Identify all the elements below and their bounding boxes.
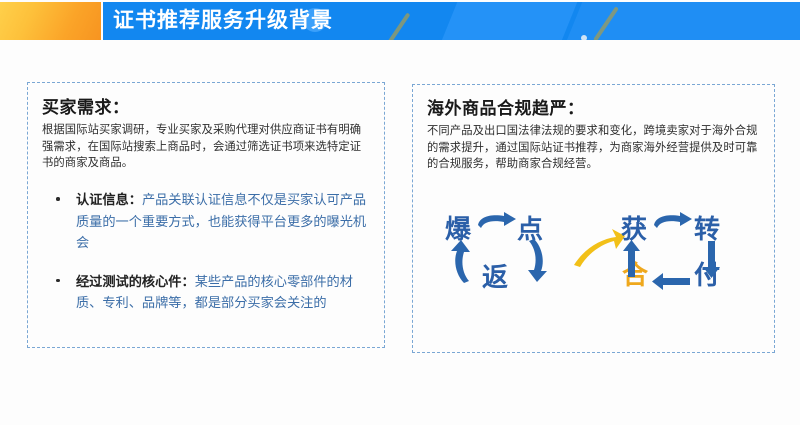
cycle-left-char-3: 返 [482, 263, 508, 291]
panel-overseas-compliance: 海外商品合规趋严： 不同产品及出口国法律法规的要求和变化，跨境卖家对于海外合规的… [412, 84, 775, 353]
header-orange-block [0, 2, 101, 40]
right-panel-title: 海外商品合规趋严： [427, 98, 585, 120]
bullet-dot-icon [56, 197, 60, 201]
cycle-left-arrow-left-icon [446, 239, 472, 285]
bullet-lead-label: 认证信息： [76, 192, 142, 207]
connector-arrow-icon [572, 225, 626, 271]
left-panel-bullet-list: 认证信息：产品关联认证信息不仅是买家认可产品质量的一个重要方式，也能获得平台更多… [42, 189, 374, 331]
cycle-right-arrow-top-icon [650, 211, 694, 231]
bullet-lead-label: 经过测试的核心件： [76, 274, 195, 289]
left-panel-title: 买家需求： [42, 97, 130, 119]
cycle-diagram: 爆 点 返 获 转 合 付 [426, 189, 766, 309]
header-diagonal-band-1 [434, 2, 582, 40]
cycle-right-arrow-right-icon [703, 239, 721, 279]
page-title: 证书推荐服务升级背景 [113, 7, 333, 35]
bullet-dot-icon [56, 279, 60, 283]
cycle-left-arrow-right-icon [526, 237, 552, 283]
right-panel-body: 不同产品及出口国法律法规的要求和变化，跨境卖家对于海外合规的需求提升，通过国际站… [427, 123, 765, 173]
cycle-right-arrow-left-icon [623, 239, 641, 279]
header-slash-decor-1 [384, 12, 411, 40]
header-bar: 证书推荐服务升级背景 [0, 0, 800, 42]
cycle-right-arrow-bottom-icon [650, 273, 692, 291]
panel-buyer-demand: 买家需求： 根据国际站买家调研，专业买家及采购代理对供应商证书有明确强需求，在国… [27, 82, 385, 348]
cycle-left-arrow-top-icon [474, 211, 518, 231]
header-dot-decor [581, 35, 587, 40]
left-panel-body: 根据国际站买家调研，专业买家及采购代理对供应商证书有明确强需求，在国际站搜索上商… [42, 122, 372, 172]
list-item: 认证信息：产品关联认证信息不仅是买家认可产品质量的一个重要方式，也能获得平台更多… [42, 189, 374, 254]
list-item: 经过测试的核心件：某些产品的核心零部件的材质、专利、品牌等，都是部分买家会关注的 [42, 271, 374, 314]
